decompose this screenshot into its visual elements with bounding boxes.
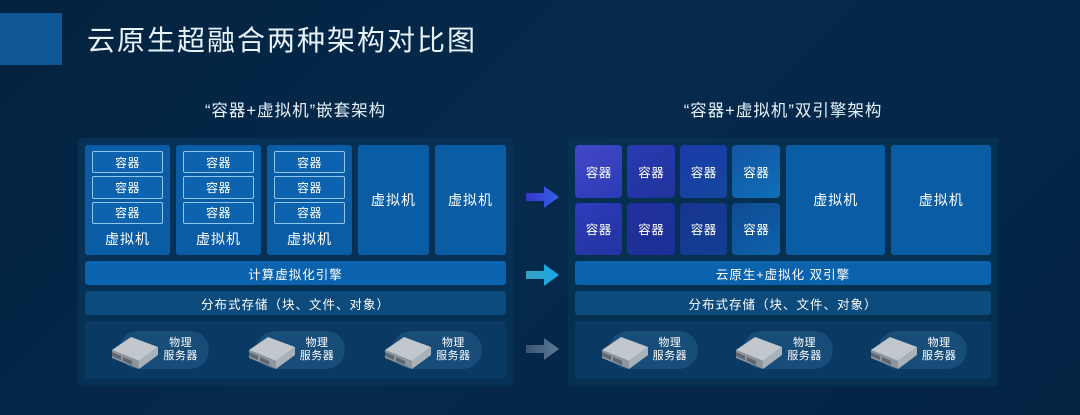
container-box[interactable]: 容器 (274, 202, 345, 224)
server-icon (868, 330, 920, 370)
left-storage-bar[interactable]: 分布式存储（块、文件、对象） (85, 291, 506, 315)
left-engine-bar[interactable]: 计算虚拟化引擎 (85, 261, 506, 285)
right-physical-server-row: 物理 服务器 (575, 321, 991, 379)
server-label-line2: 服务器 (922, 350, 957, 362)
container-box[interactable]: 容器 (732, 145, 780, 198)
server-label-line1: 物理 (928, 337, 951, 349)
server-label: 物理 服务器 (922, 337, 957, 363)
vm-host-label: 虚拟机 (183, 227, 254, 251)
server-label-line1: 物理 (442, 337, 465, 349)
vm-host[interactable]: 容器 容器 容器 虚拟机 (176, 145, 261, 255)
container-box[interactable]: 容器 (680, 203, 728, 256)
vm-plain-box[interactable]: 虚拟机 (786, 145, 886, 255)
container-box[interactable]: 容器 (183, 176, 254, 198)
right-engine-bar[interactable]: 云原生+虚拟化 双引擎 (575, 261, 991, 285)
server-label-line2: 服务器 (163, 350, 198, 362)
physical-server[interactable]: 物理 服务器 (733, 328, 833, 372)
vm-plain-box[interactable]: 虚拟机 (891, 145, 991, 255)
container-box[interactable]: 容器 (680, 145, 728, 198)
server-label: 物理 服务器 (787, 337, 822, 363)
arrow-hardware-icon (526, 336, 560, 362)
container-box[interactable]: 容器 (92, 176, 163, 198)
server-icon (382, 330, 434, 370)
left-compute-row: 容器 容器 容器 虚拟机 容器 容器 容器 虚拟机 容器 容器 容器 虚拟机 (85, 145, 506, 255)
container-box[interactable]: 容器 (92, 151, 163, 173)
server-label: 物理 服务器 (300, 337, 335, 363)
page-title: 云原生超融合两种架构对比图 (87, 19, 477, 59)
arrow-engine-icon (526, 262, 560, 288)
right-panel-heading: “容器+虚拟机”双引擎架构 (568, 98, 998, 124)
left-physical-server-row: 物理 服务器 (85, 321, 506, 379)
slide-canvas: 云原生超融合两种架构对比图 “容器+虚拟机”嵌套架构 容器 容器 容器 虚拟机 … (0, 0, 1080, 415)
physical-server[interactable]: 物理 服务器 (382, 328, 482, 372)
vm-host-label: 虚拟机 (274, 227, 345, 251)
physical-server[interactable]: 物理 服务器 (109, 328, 209, 372)
server-label-line1: 物理 (793, 337, 816, 349)
container-box[interactable]: 容器 (627, 203, 675, 256)
container-box[interactable]: 容器 (274, 176, 345, 198)
container-box[interactable]: 容器 (183, 151, 254, 173)
server-label: 物理 服务器 (653, 337, 688, 363)
server-label-line2: 服务器 (653, 350, 688, 362)
server-icon (733, 330, 785, 370)
title-accent-block (0, 13, 62, 65)
right-storage-bar[interactable]: 分布式存储（块、文件、对象） (575, 291, 991, 315)
vm-host[interactable]: 容器 容器 容器 虚拟机 (267, 145, 352, 255)
server-label-line1: 物理 (305, 337, 328, 349)
container-grid: 容器 容器 容器 容器 容器 容器 容器 容器 (575, 145, 780, 255)
container-box[interactable]: 容器 (92, 202, 163, 224)
container-box[interactable]: 容器 (732, 203, 780, 256)
vm-plain-box[interactable]: 虚拟机 (358, 145, 429, 255)
left-architecture-panel: “容器+虚拟机”嵌套架构 容器 容器 容器 虚拟机 容器 容器 容器 虚拟机 容… (78, 98, 513, 386)
server-icon (246, 330, 298, 370)
physical-server[interactable]: 物理 服务器 (246, 328, 346, 372)
vm-plain-box[interactable]: 虚拟机 (435, 145, 506, 255)
server-label: 物理 服务器 (436, 337, 471, 363)
title-bar: 云原生超融合两种架构对比图 (0, 13, 477, 65)
physical-server[interactable]: 物理 服务器 (868, 328, 968, 372)
container-box[interactable]: 容器 (575, 203, 622, 256)
vm-host[interactable]: 容器 容器 容器 虚拟机 (85, 145, 170, 255)
left-panel-heading: “容器+虚拟机”嵌套架构 (78, 98, 513, 124)
container-box[interactable]: 容器 (183, 202, 254, 224)
container-box[interactable]: 容器 (274, 151, 345, 173)
container-box[interactable]: 容器 (575, 145, 622, 198)
server-icon (109, 330, 161, 370)
right-architecture-panel: “容器+虚拟机”双引擎架构 容器 容器 容器 容器 容器 容器 容器 容器 虚拟… (568, 98, 998, 386)
server-icon (599, 330, 651, 370)
server-label-line1: 物理 (169, 337, 192, 349)
right-compute-row: 容器 容器 容器 容器 容器 容器 容器 容器 虚拟机 虚拟机 (575, 145, 991, 255)
server-label-line1: 物理 (658, 337, 681, 349)
vm-host-label: 虚拟机 (92, 227, 163, 251)
physical-server[interactable]: 物理 服务器 (599, 328, 699, 372)
container-box[interactable]: 容器 (627, 145, 675, 198)
server-label-line2: 服务器 (436, 350, 471, 362)
right-panel-body: 容器 容器 容器 容器 容器 容器 容器 容器 虚拟机 虚拟机 云原生+虚拟化 … (568, 138, 998, 386)
arrow-compute-icon (526, 184, 560, 210)
server-label-line2: 服务器 (787, 350, 822, 362)
left-panel-body: 容器 容器 容器 虚拟机 容器 容器 容器 虚拟机 容器 容器 容器 虚拟机 (78, 138, 513, 386)
server-label-line2: 服务器 (300, 350, 335, 362)
server-label: 物理 服务器 (163, 337, 198, 363)
